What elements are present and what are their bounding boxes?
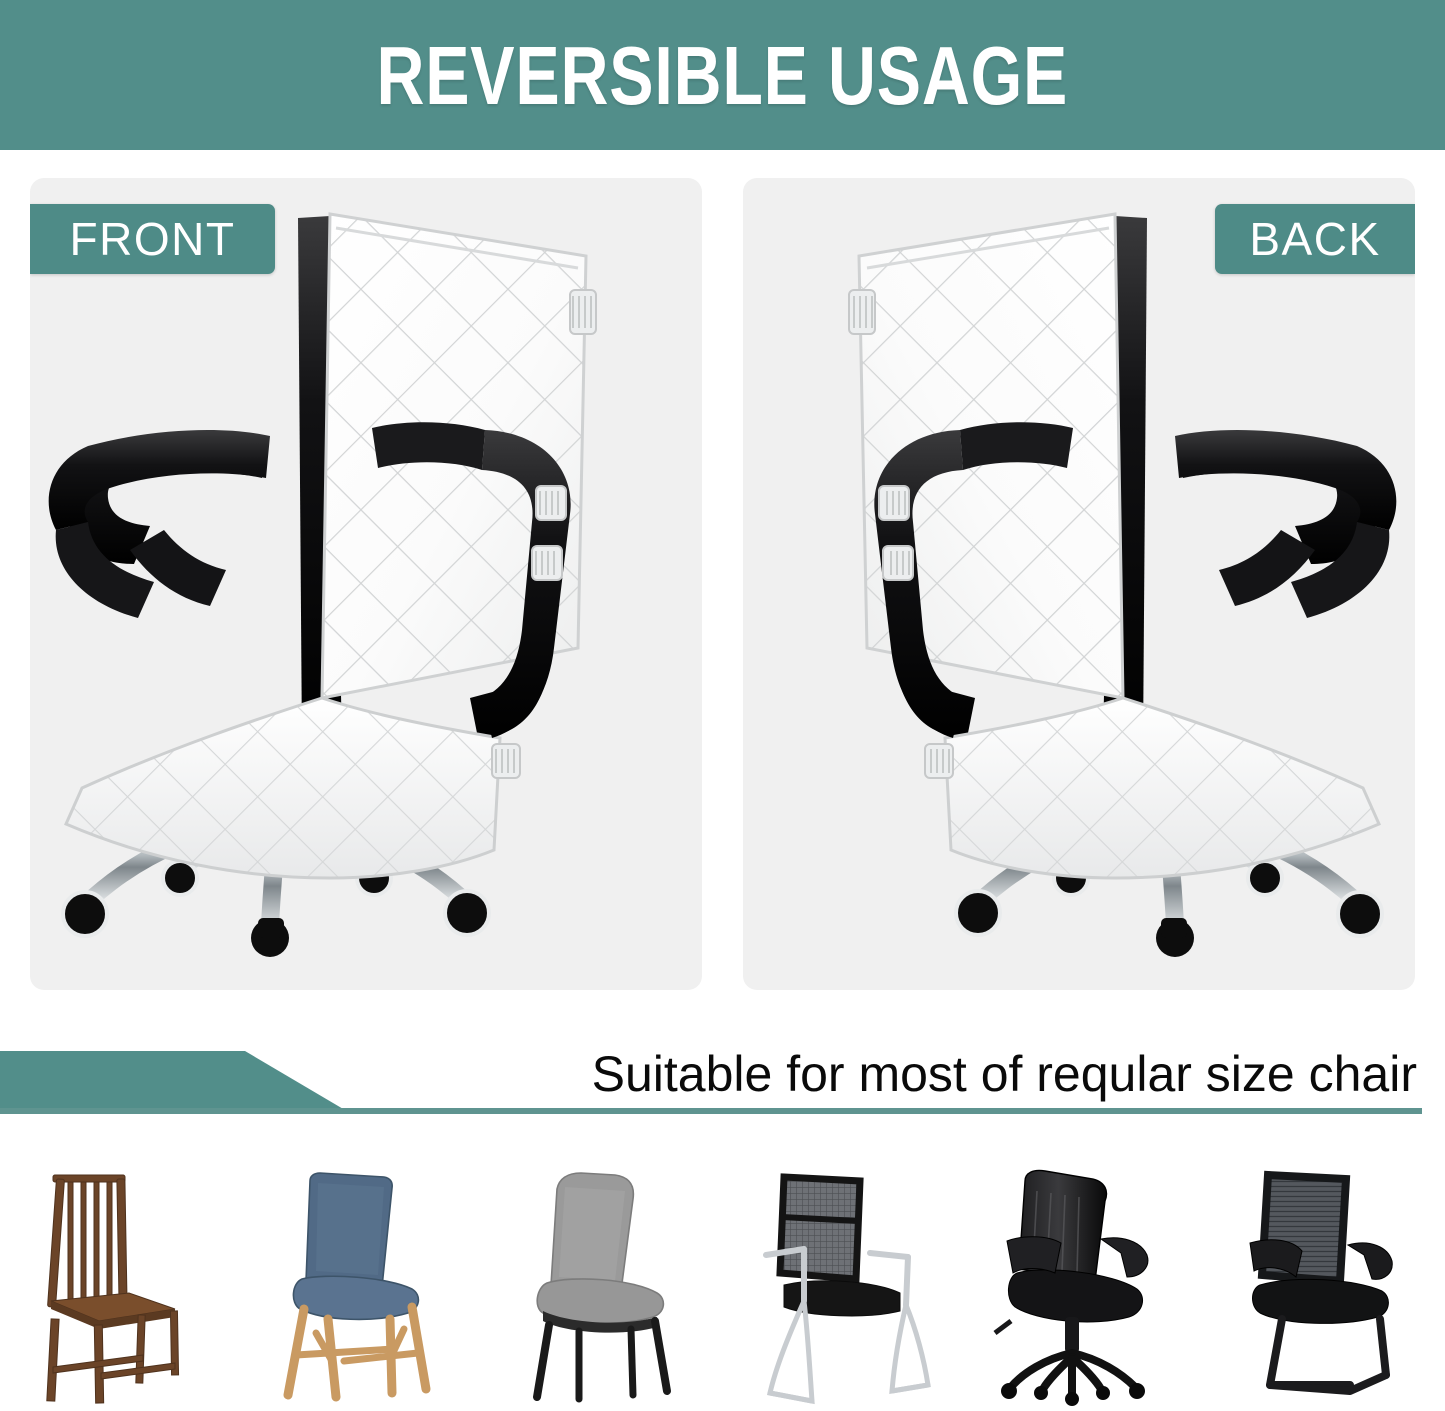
mesh-cantilever-chair-icon [1230,1169,1420,1407]
front-badge-label: FRONT [70,212,236,266]
teal-underline-rule [0,1108,1422,1114]
headline-text: Suitable for most of reqular size chair [592,1040,1417,1108]
chair-thumb-wooden-slat-back-dining-chair [0,1165,241,1411]
chair-thumb-black-leather-executive-chair [963,1165,1204,1411]
front-chair-image [30,178,702,990]
back-badge: BACK [1215,204,1415,274]
wooden-slat-back-chair-icon [25,1169,215,1407]
header-banner: REVERSIBLE USAGE [0,0,1445,150]
grey-upholstered-chair-icon [507,1169,697,1407]
leather-executive-chair-icon [989,1169,1179,1407]
back-badge-label: BACK [1249,212,1380,266]
front-view-panel: FRONT [30,178,702,990]
back-chair-image [743,178,1415,990]
chair-thumb-blue-upholstered-wood-leg-chair [241,1165,482,1411]
compatible-chairs-row [0,1165,1445,1411]
mesh-sled-visitor-chair-icon [748,1169,938,1407]
quilted-seat-cover [945,698,1379,878]
page-title: REVERSIBLE USAGE [377,34,1069,117]
teal-wedge-decoration [0,1051,360,1113]
quilted-seat-cover [66,698,500,878]
headline-strip: Suitable for most of reqular size chair [0,1040,1445,1145]
back-view-panel: BACK [743,178,1415,990]
chair-thumb-grey-upholstered-metal-leg-chair [482,1165,723,1411]
chair-thumb-mesh-back-cantilever-chair [1204,1165,1445,1411]
chair-thumb-mesh-back-sled-visitor-chair [722,1165,963,1411]
front-badge: FRONT [30,204,275,274]
blue-upholstered-chair-icon [266,1169,456,1407]
